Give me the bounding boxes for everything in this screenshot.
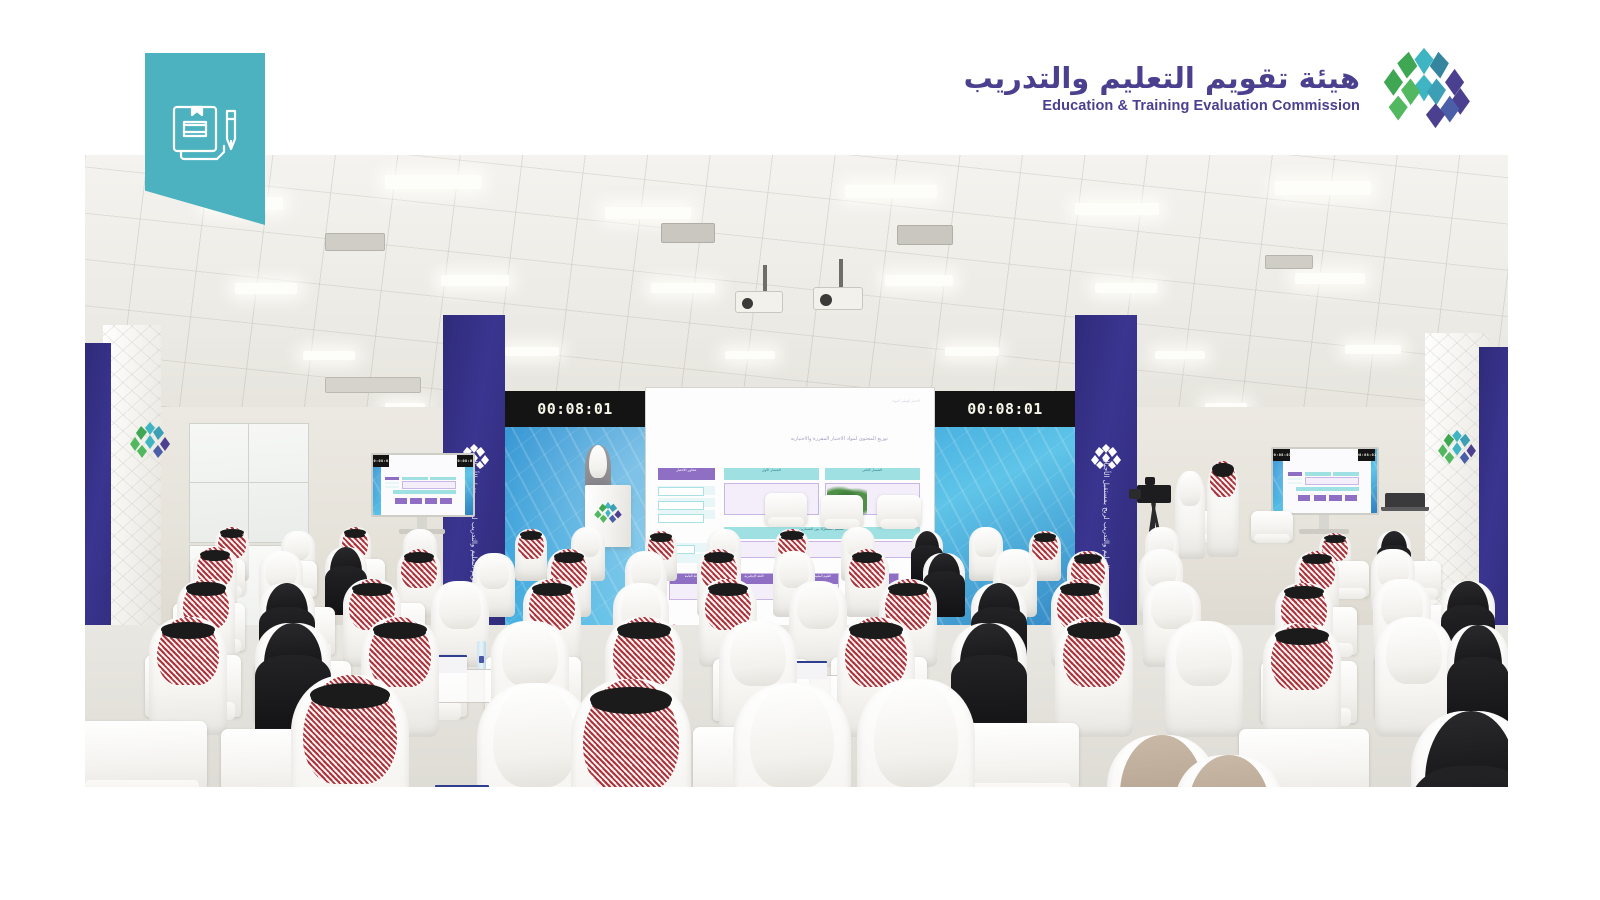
photo-element bbox=[1345, 345, 1401, 354]
ac-vent bbox=[325, 377, 421, 393]
timer-left: 00:08:01 bbox=[505, 391, 645, 427]
photo-element bbox=[402, 477, 428, 481]
attendee-front bbox=[291, 675, 409, 787]
photo-element bbox=[885, 275, 953, 286]
photo-element bbox=[651, 283, 715, 293]
photo-element bbox=[402, 481, 456, 488]
slide-corner-note: الاختبار الوطني الموحد bbox=[892, 399, 920, 403]
lounge-chair bbox=[877, 495, 921, 527]
attendee-front bbox=[1411, 711, 1508, 787]
lounge-chair bbox=[765, 493, 807, 525]
left-monitor: 00:08:01 00:08:01 bbox=[371, 453, 475, 535]
attendee bbox=[1055, 617, 1133, 737]
photo-element: 00:08:01 bbox=[1358, 449, 1375, 461]
photo-element: 00:08:01 bbox=[373, 455, 389, 467]
photo-element bbox=[1295, 273, 1365, 284]
attendee-front bbox=[857, 679, 975, 787]
page-footer: ETECKSA ETEC.GOV.SA bbox=[0, 787, 1600, 900]
photo-element bbox=[505, 347, 559, 356]
photo-element bbox=[1314, 495, 1326, 501]
attendee bbox=[515, 529, 547, 581]
photo-element bbox=[1095, 283, 1157, 293]
photo-element bbox=[945, 347, 999, 356]
slide-header-left: المسار الأول bbox=[724, 468, 819, 480]
ac-vent bbox=[325, 233, 385, 251]
ac-vent bbox=[661, 223, 715, 243]
photo-element bbox=[725, 351, 775, 359]
photo-element bbox=[1345, 495, 1357, 501]
projector-lens bbox=[742, 298, 753, 309]
photo-element bbox=[425, 498, 437, 503]
photo-element bbox=[385, 482, 399, 484]
projector bbox=[735, 291, 783, 313]
slide-outer-label bbox=[658, 514, 704, 523]
photo-element bbox=[441, 275, 509, 286]
chair bbox=[85, 721, 207, 787]
slide-outer-label bbox=[658, 487, 704, 496]
lounge-chair bbox=[821, 495, 863, 527]
projector-lens bbox=[820, 294, 832, 306]
attendee bbox=[1165, 621, 1243, 737]
timer-right: 00:08:01 bbox=[935, 391, 1075, 427]
slide-band-label: القسم المشترك بين المسارين bbox=[724, 527, 920, 538]
brand-name-arabic: هيئة تقويم التعليم والتدريب bbox=[964, 63, 1360, 95]
photo-element bbox=[1298, 495, 1310, 501]
event-photograph: هيئة تقويم التعليم والتدريب لربح بمستقبل… bbox=[85, 155, 1508, 787]
photo-element bbox=[410, 498, 422, 503]
photo-element bbox=[430, 477, 456, 481]
photo-element bbox=[1329, 495, 1341, 501]
photo-element bbox=[605, 207, 691, 219]
photo-element bbox=[1296, 487, 1359, 491]
photo-element: 00:08:01 bbox=[1273, 449, 1290, 461]
photo-element bbox=[1155, 351, 1205, 359]
brand-lockup: هيئة تقويم التعليم والتدريب Education & … bbox=[964, 46, 1472, 132]
window bbox=[189, 423, 309, 543]
attendee bbox=[1263, 623, 1341, 739]
slide-header-right: المسار الثاني bbox=[825, 468, 920, 480]
photo-element bbox=[385, 477, 399, 481]
ac-vent bbox=[1265, 255, 1313, 269]
photo-element bbox=[1305, 477, 1359, 485]
projector bbox=[813, 287, 863, 310]
ac-vent bbox=[897, 225, 953, 245]
projector-mount bbox=[763, 265, 767, 293]
timer-right-value: 00:08:01 bbox=[967, 400, 1042, 418]
etec-fan-logo-icon bbox=[594, 501, 622, 523]
etec-fan-logo-icon bbox=[1437, 429, 1477, 465]
lounge-chair bbox=[1251, 511, 1293, 541]
projector-mount bbox=[839, 259, 843, 289]
water-bottle bbox=[477, 641, 486, 669]
brand-text-block: هيئة تقويم التعليم والتدريب Education & … bbox=[964, 63, 1360, 116]
photo-element bbox=[385, 486, 399, 488]
laptop-base bbox=[1381, 507, 1429, 511]
laptop bbox=[1385, 493, 1425, 507]
attendee bbox=[149, 617, 227, 735]
slide-row-label: محاور الاختبار bbox=[658, 468, 716, 480]
photo-element bbox=[395, 498, 407, 503]
attendee-front bbox=[571, 679, 691, 787]
photo-element bbox=[1288, 478, 1303, 481]
attendee-standing bbox=[1207, 461, 1239, 557]
etec-fan-logo-icon bbox=[129, 421, 171, 459]
photo-element: 00:08:01 bbox=[457, 455, 473, 467]
photo-element bbox=[845, 185, 937, 198]
notebook-pencil-icon bbox=[171, 101, 241, 163]
photo-element bbox=[1075, 203, 1159, 215]
photo-element bbox=[1288, 472, 1303, 476]
brand-name-english: Education & Training Evaluation Commissi… bbox=[964, 99, 1360, 115]
photo-element bbox=[1305, 472, 1331, 476]
photo-element bbox=[1288, 482, 1303, 485]
photo-element bbox=[1275, 181, 1371, 195]
slide-cell bbox=[724, 541, 920, 558]
photo-element bbox=[385, 175, 481, 189]
etec-fan-logo-icon bbox=[1376, 46, 1472, 132]
timer-left-value: 00:08:01 bbox=[537, 400, 612, 418]
photo-element bbox=[1333, 472, 1359, 476]
slide-page: هيئة تقويم التعليم والتدريب Education & … bbox=[0, 0, 1600, 900]
slide-outer-label bbox=[658, 501, 704, 510]
slide-title: توزيع المحتوى لمواد الاختبار المقررة وال… bbox=[791, 436, 888, 442]
photo-element bbox=[235, 283, 297, 294]
attendee-front bbox=[733, 683, 851, 787]
photo-element bbox=[393, 490, 456, 494]
photo-element bbox=[440, 498, 452, 503]
attendee-front bbox=[1175, 755, 1283, 787]
photo-element bbox=[303, 351, 355, 360]
